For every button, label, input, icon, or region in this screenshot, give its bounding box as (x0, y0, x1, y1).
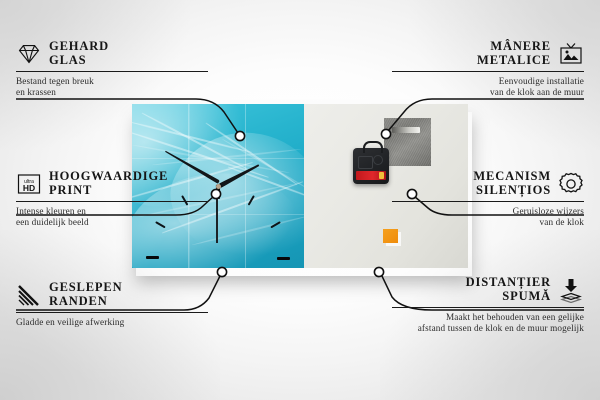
feature-description: Gladde en veilige afwerking (16, 317, 208, 328)
ultra-hd-icon: ultra HD (16, 171, 42, 197)
svg-text:HD: HD (23, 183, 35, 193)
feature-description: Bestand tegen breuk en krassen (16, 76, 208, 99)
diamond-icon (16, 41, 42, 67)
feature-distantier-spuma[interactable]: DISTANȚIER SPUMĂ Maakt het behouden van … (392, 276, 584, 335)
divider (392, 307, 584, 308)
feature-title: DISTANȚIER SPUMĂ (466, 276, 551, 303)
divider (16, 71, 208, 72)
feature-description: Eenvoudige installatie van de klok aan d… (392, 76, 584, 99)
feature-title: MECANISM SILENȚIOS (473, 170, 551, 197)
connector-dot-handles (381, 129, 390, 138)
feature-manere-metalice[interactable]: MÂNERE METALICE Eenvoudige installatie v… (392, 40, 584, 99)
feature-title: GESLEPEN RANDEN (49, 281, 123, 308)
infographic-canvas: GEHARD GLAS Bestand tegen breuk en krass… (0, 0, 600, 400)
feature-mecanism-silentios[interactable]: MECANISM SILENȚIOS Geruisloze wijzers va… (392, 170, 584, 229)
feature-hoogwaardige-print[interactable]: ultra HD HOOGWAARDIGE PRINT Intense kleu… (16, 170, 208, 229)
feature-geslepen-randen[interactable]: GESLEPEN RANDEN Gladde en veilige afwerk… (16, 281, 208, 328)
feature-description: Intense kleuren en een duidelijk beeld (16, 206, 208, 229)
connector-dot-spacer (374, 267, 383, 276)
divider (392, 71, 584, 72)
feature-description: Maakt het behouden van een gelijke afsta… (369, 312, 584, 335)
divider (16, 312, 208, 313)
feature-title: HOOGWAARDIGE PRINT (49, 170, 168, 197)
feature-gehard-glas[interactable]: GEHARD GLAS Bestand tegen breuk en krass… (16, 40, 208, 99)
beveled-edges-icon (16, 282, 42, 308)
connector-dot-edges (217, 267, 226, 276)
gear-icon (558, 171, 584, 197)
picture-frame-icon (558, 41, 584, 67)
connector-dot-print (211, 189, 220, 198)
feature-title: MÂNERE METALICE (477, 40, 551, 67)
divider (16, 201, 208, 202)
feature-title: GEHARD GLAS (49, 40, 109, 67)
divider (392, 201, 584, 202)
spacer-arrow-icon (558, 277, 584, 303)
connector-dot-glass (235, 131, 244, 140)
feature-description: Geruisloze wijzers van de klok (392, 206, 584, 229)
